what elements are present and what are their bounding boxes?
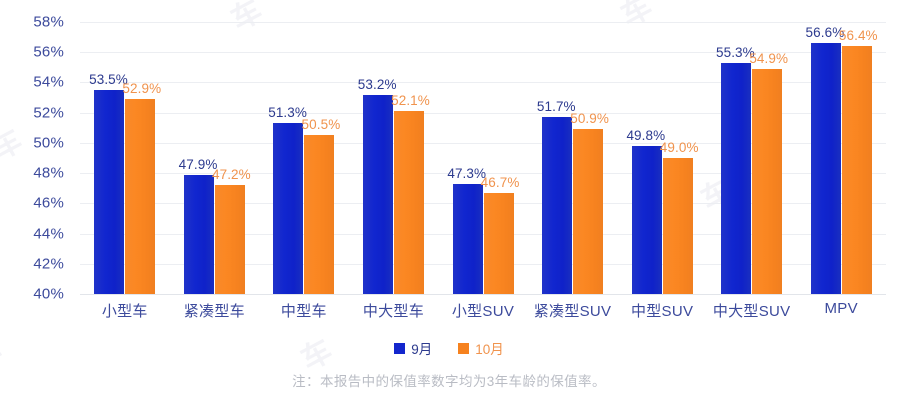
legend-swatch-icon bbox=[458, 343, 469, 354]
plot-area: 53.5%52.9%47.9%47.2%51.3%50.5%53.2%52.1%… bbox=[80, 22, 886, 294]
x-axis-category-label: 小型SUV bbox=[452, 300, 514, 321]
bar-oct[interactable]: 47.2% bbox=[215, 185, 245, 294]
bar-oct[interactable]: 46.7% bbox=[484, 193, 514, 294]
x-axis-category-label: 紧凑型车 bbox=[184, 300, 245, 321]
bar-sep[interactable]: 47.9% bbox=[184, 175, 214, 294]
bar-fill bbox=[632, 146, 662, 294]
bar-oct[interactable]: 52.9% bbox=[125, 99, 155, 294]
y-axis-tick-label: 42% bbox=[33, 255, 64, 272]
y-axis-tick-label: 40% bbox=[33, 286, 64, 303]
bar-group: 51.7%50.9% bbox=[542, 22, 603, 294]
legend-label: 9月 bbox=[411, 338, 432, 358]
bar-value-label: 52.1% bbox=[391, 93, 430, 108]
bar-group: 47.9%47.2% bbox=[184, 22, 245, 294]
bar-fill bbox=[453, 184, 483, 294]
bar-group: 53.5%52.9% bbox=[94, 22, 155, 294]
bar-group: 47.3%46.7% bbox=[453, 22, 514, 294]
chart-legend: 9月10月 bbox=[0, 338, 898, 358]
bar-fill bbox=[811, 43, 841, 294]
chart-footnote: 注：本报告中的保值率数字均为3年车龄的保值率。 bbox=[0, 370, 898, 390]
y-axis-tick-label: 46% bbox=[33, 195, 64, 212]
bar-sep[interactable]: 47.3% bbox=[453, 184, 483, 294]
legend-label: 10月 bbox=[475, 338, 504, 358]
x-axis-category-label: MPV bbox=[825, 300, 858, 317]
bar-value-label: 50.9% bbox=[570, 111, 609, 126]
y-axis: 58%56%54%52%50%48%46%44%42%40% bbox=[0, 22, 72, 294]
x-axis: 小型车紧凑型车中型车中大型车小型SUV紧凑型SUV中型SUV中大型SUVMPV bbox=[80, 300, 886, 324]
bar-value-label: 47.2% bbox=[212, 167, 251, 182]
x-axis-category-label: 中大型SUV bbox=[713, 300, 791, 321]
x-axis-category-label: 中型车 bbox=[281, 300, 327, 321]
bar-value-label: 49.0% bbox=[660, 140, 699, 155]
bar-oct[interactable]: 50.9% bbox=[573, 129, 603, 294]
bar-sep[interactable]: 53.2% bbox=[363, 95, 393, 294]
bar-fill bbox=[363, 95, 393, 294]
y-axis-tick-label: 48% bbox=[33, 165, 64, 182]
x-axis-category-label: 中大型车 bbox=[363, 300, 424, 321]
bar-group: 55.3%54.9% bbox=[721, 22, 782, 294]
y-axis-tick-label: 56% bbox=[33, 44, 64, 61]
y-axis-tick-label: 50% bbox=[33, 134, 64, 151]
legend-item[interactable]: 9月 bbox=[394, 338, 432, 358]
bar-fill bbox=[394, 111, 424, 294]
bar-fill bbox=[215, 185, 245, 294]
bar-group: 49.8%49.0% bbox=[632, 22, 693, 294]
bar-oct[interactable]: 52.1% bbox=[394, 111, 424, 294]
x-axis-category-label: 紧凑型SUV bbox=[534, 300, 612, 321]
bar-group: 53.2%52.1% bbox=[363, 22, 424, 294]
bar-sep[interactable]: 51.3% bbox=[273, 123, 303, 294]
bar-oct[interactable]: 49.0% bbox=[663, 158, 693, 294]
bar-fill bbox=[125, 99, 155, 294]
bar-value-label: 56.4% bbox=[839, 28, 878, 43]
bar-fill bbox=[663, 158, 693, 294]
bar-fill bbox=[573, 129, 603, 294]
bar-fill bbox=[184, 175, 214, 294]
bar-fill bbox=[752, 69, 782, 294]
bar-fill bbox=[542, 117, 572, 294]
bar-group: 56.6%56.4% bbox=[811, 22, 872, 294]
y-axis-tick-label: 52% bbox=[33, 104, 64, 121]
bar-sep[interactable]: 55.3% bbox=[721, 63, 751, 294]
bar-fill bbox=[721, 63, 751, 294]
y-axis-tick-label: 44% bbox=[33, 225, 64, 242]
bar-fill bbox=[304, 135, 334, 294]
bar-fill bbox=[842, 46, 872, 294]
bar-value-label: 53.2% bbox=[358, 77, 397, 92]
bar-oct[interactable]: 56.4% bbox=[842, 46, 872, 294]
bar-oct[interactable]: 50.5% bbox=[304, 135, 334, 294]
bar-fill bbox=[484, 193, 514, 294]
x-axis-category-label: 小型车 bbox=[102, 300, 148, 321]
bar-value-label: 54.9% bbox=[749, 51, 788, 66]
legend-item[interactable]: 10月 bbox=[458, 338, 504, 358]
legend-swatch-icon bbox=[394, 343, 405, 354]
x-axis-category-label: 中型SUV bbox=[631, 300, 693, 321]
bar-value-label: 46.7% bbox=[481, 175, 520, 190]
bar-sep[interactable]: 51.7% bbox=[542, 117, 572, 294]
gridline bbox=[80, 294, 886, 295]
bar-sep[interactable]: 49.8% bbox=[632, 146, 662, 294]
y-axis-tick-label: 54% bbox=[33, 74, 64, 91]
bar-fill bbox=[94, 90, 124, 294]
bar-oct[interactable]: 54.9% bbox=[752, 69, 782, 294]
bar-value-label: 50.5% bbox=[302, 117, 341, 132]
bar-sep[interactable]: 53.5% bbox=[94, 90, 124, 294]
bar-sep[interactable]: 56.6% bbox=[811, 43, 841, 294]
bar-group: 51.3%50.5% bbox=[273, 22, 334, 294]
bar-value-label: 52.9% bbox=[122, 81, 161, 96]
bar-fill bbox=[273, 123, 303, 294]
y-axis-tick-label: 58% bbox=[33, 14, 64, 31]
chart-container: 车 车 车 车 车 车 58%56%54%52%50%48%46%44%42%4… bbox=[0, 0, 898, 409]
